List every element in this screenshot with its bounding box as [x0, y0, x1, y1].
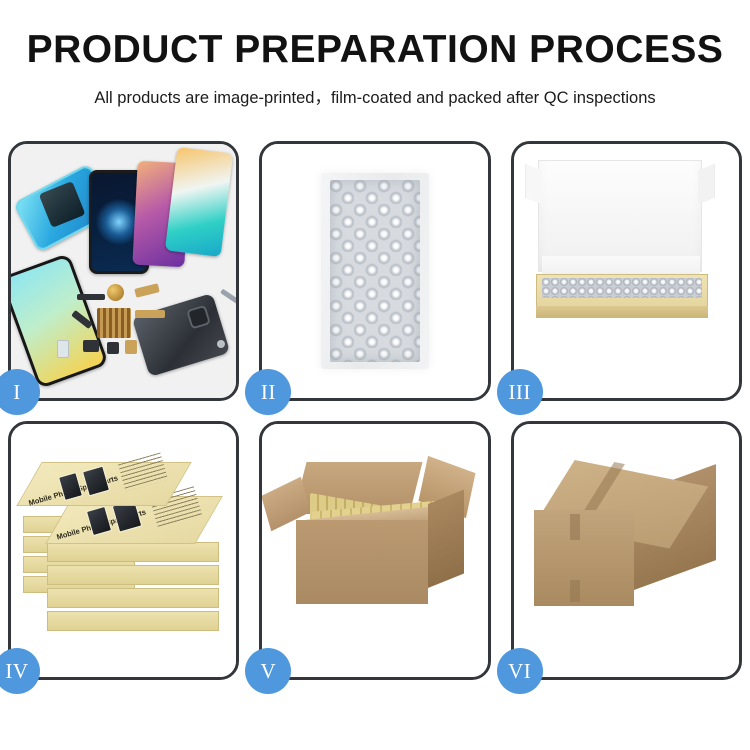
page-subtitle: All products are image-printed，film-coat… — [0, 84, 750, 108]
bubble-wrap-contents — [542, 278, 702, 298]
sim-tray-part — [57, 340, 69, 358]
process-step-card-3: III — [511, 141, 742, 401]
connector-part — [134, 283, 159, 298]
process-step-card-4: Mobile Phone Spare Parts Mobile Phone Sp… — [8, 421, 239, 681]
ic-chip-part — [97, 308, 131, 338]
step-6-image — [514, 424, 739, 678]
stacked-box — [47, 542, 219, 562]
speaker-part — [107, 284, 124, 301]
process-step-card-6: VI — [511, 421, 742, 681]
product-preparation-page: PRODUCT PREPARATION PROCESS All products… — [0, 0, 750, 750]
button-part — [107, 342, 119, 354]
bubble-wrap-texture — [330, 180, 420, 362]
process-step-card-5: V — [259, 421, 490, 681]
camera-module-part — [83, 340, 99, 352]
step-badge-2: II — [245, 369, 291, 415]
ribbon-cable-part — [135, 310, 165, 318]
step-badge-4: IV — [0, 648, 40, 694]
step-3-image — [514, 144, 739, 398]
screw-part — [217, 340, 225, 348]
process-step-card-1: I — [8, 141, 239, 401]
step-badge-3: III — [497, 369, 543, 415]
flex-cable-part — [77, 294, 105, 300]
kraft-box-front-panel — [536, 306, 708, 318]
phone-back-housing — [132, 293, 230, 377]
stacked-box — [47, 565, 219, 585]
carton-flap-seam-lower — [570, 580, 580, 602]
step-5-image — [262, 424, 487, 678]
stacked-box — [47, 611, 219, 631]
sealed-carton-front-panel — [534, 510, 634, 606]
step-badge-5: V — [245, 648, 291, 694]
step-1-image — [11, 144, 236, 398]
bubble-wrap-package — [321, 173, 429, 369]
step-4-image: Mobile Phone Spare Parts Mobile Phone Sp… — [11, 424, 236, 678]
bracket-part — [125, 340, 137, 354]
carton-flap-seam-upper — [570, 514, 580, 540]
teal-gradient-phone — [165, 147, 233, 257]
screwdriver-tool — [220, 289, 236, 309]
page-title: PRODUCT PREPARATION PROCESS — [0, 28, 750, 72]
process-step-card-2: II — [259, 141, 490, 401]
process-step-grid: I II III — [8, 141, 742, 680]
carton-front-panel — [296, 520, 428, 604]
carton-side-panel — [428, 489, 464, 588]
step-badge-6: VI — [497, 648, 543, 694]
step-2-image — [262, 144, 487, 398]
stacked-box — [47, 588, 219, 608]
